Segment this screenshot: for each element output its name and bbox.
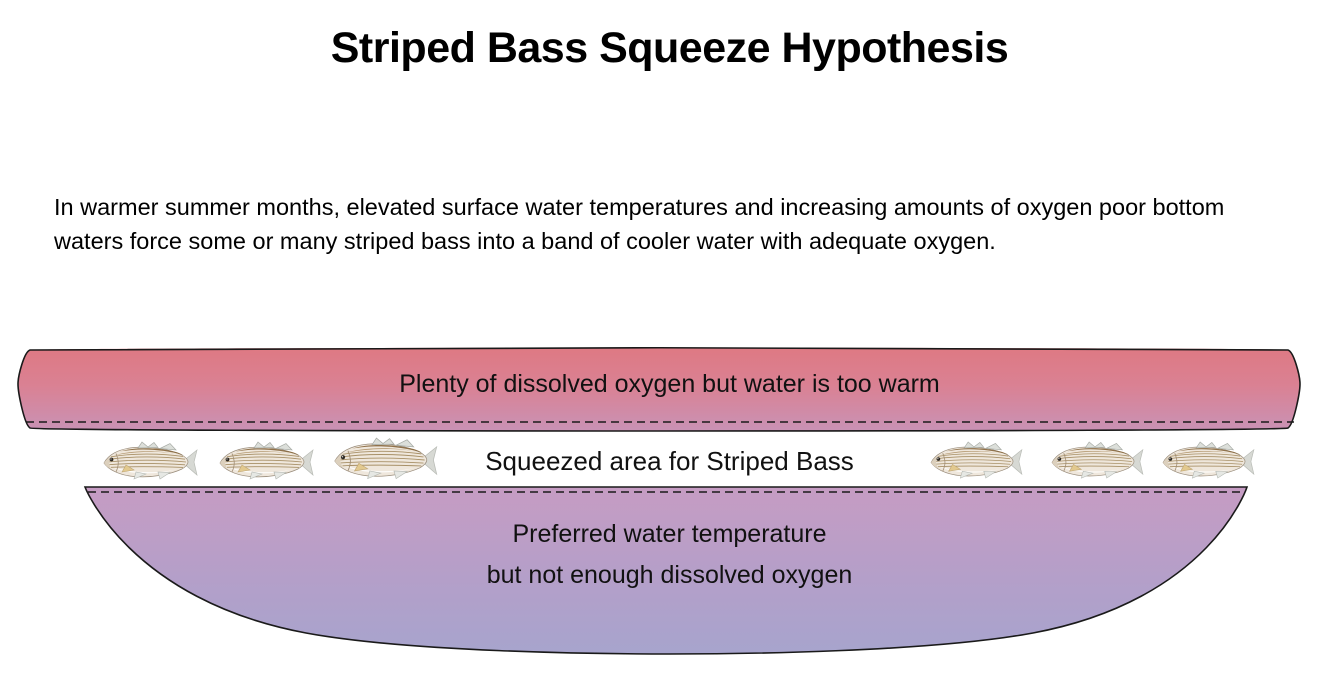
- page-title: Striped Bass Squeeze Hypothesis: [0, 24, 1339, 73]
- middle-band-group: Squeezed area for Striped Bass: [104, 438, 1254, 479]
- top-band-group: Plenty of dissolved oxygen but water is …: [18, 348, 1300, 431]
- bottom-band-label-line1: Preferred water temperature: [512, 520, 826, 548]
- top-band-label: Plenty of dissolved oxygen but water is …: [399, 370, 940, 398]
- striped-bass-icon: [104, 442, 197, 479]
- striped-bass-icon: [931, 442, 1022, 478]
- striped-bass-icon: [220, 442, 313, 479]
- striped-bass-icon: [1052, 442, 1143, 478]
- striped-bass-icon: [1163, 442, 1254, 478]
- diagram-svg: Plenty of dissolved oxygen but water is …: [0, 336, 1339, 656]
- intro-paragraph: In warmer summer months, elevated surfac…: [54, 190, 1289, 258]
- squeeze-diagram: Plenty of dissolved oxygen but water is …: [0, 336, 1339, 656]
- bottom-band-label-line2: but not enough dissolved oxygen: [487, 561, 853, 589]
- striped-bass-icon: [335, 438, 437, 479]
- bottom-band-group: Preferred water temperature but not enou…: [85, 487, 1247, 654]
- middle-band-label: Squeezed area for Striped Bass: [485, 446, 854, 476]
